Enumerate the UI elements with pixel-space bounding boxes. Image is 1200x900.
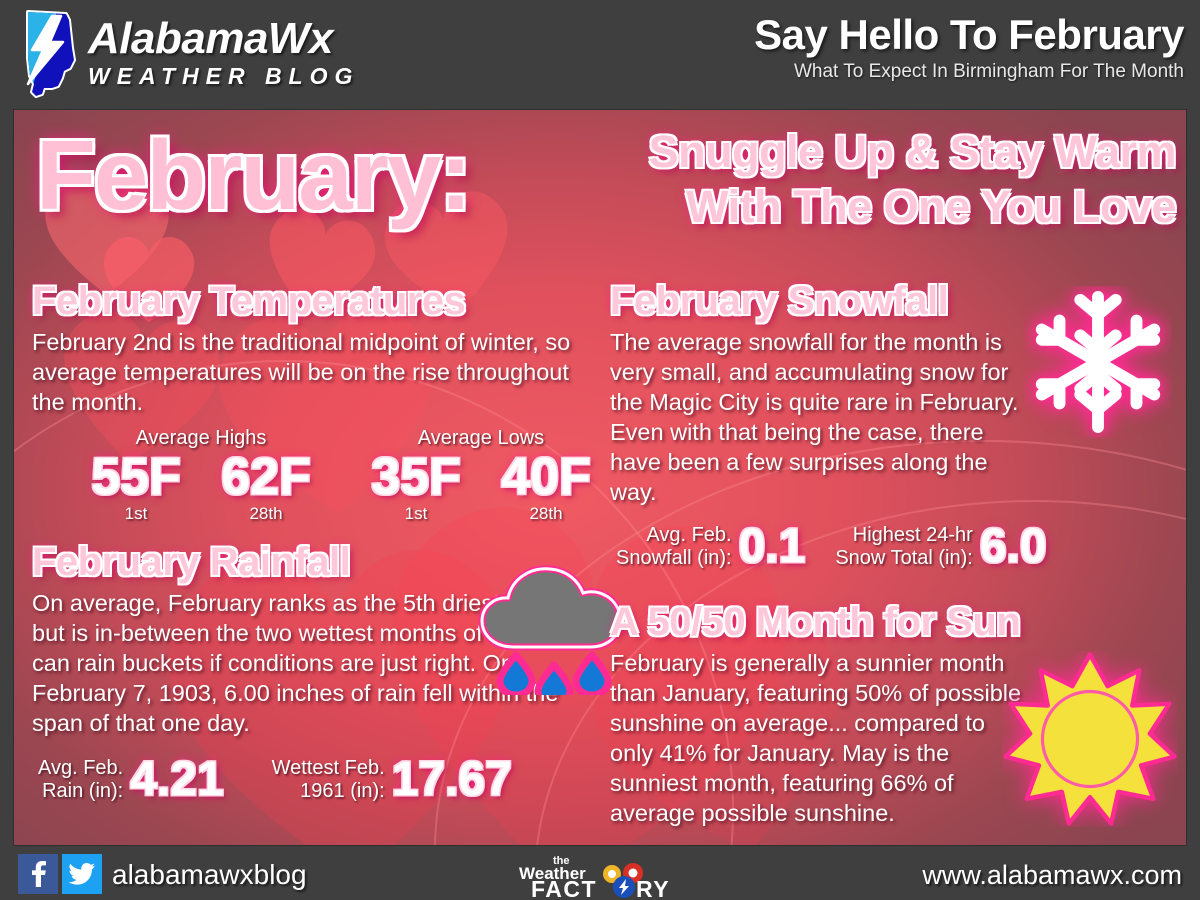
page-subtitle: What To Expect In Birmingham For The Mon…: [754, 60, 1184, 84]
low-stat-1: 35F 1st: [360, 450, 472, 524]
snowfall-stat-1-label-1: Avg. Feb.: [616, 524, 732, 547]
hero-month-title: February:: [36, 120, 470, 230]
footer-bar: alabamawxblog the Weather FACT RY: [0, 848, 1200, 900]
average-highs-group: Average Highs 55F 1st 62F 28th: [80, 427, 322, 524]
average-lows-label: Average Lows: [360, 427, 602, 450]
svg-text:RY: RY: [636, 876, 670, 898]
brand-name: AlabamaWx: [88, 16, 359, 62]
average-lows-group: Average Lows 35F 1st 40F 28th: [360, 427, 602, 524]
sun-heading: A 50/50 Month for Sun: [610, 599, 1180, 645]
rainfall-stat-2-label-2: 1961 (in):: [272, 780, 385, 803]
hero-tagline: Snuggle Up & Stay Warm With The One You …: [566, 124, 1176, 234]
infographic-page: AlabamaWx WEATHER BLOG Say Hello To Febr…: [0, 0, 1200, 900]
hero-banner: February: Snuggle Up & Stay Warm With Th…: [14, 110, 1186, 280]
high-day-2: 28th: [210, 504, 322, 524]
temperatures-heading: February Temperatures: [32, 278, 612, 324]
snowfall-stat-2-label-2: Snow Total (in):: [835, 547, 972, 570]
snowfall-stat-2-value: 6.0: [980, 523, 1047, 571]
temperature-stats: Average Highs 55F 1st 62F 28th: [32, 427, 612, 523]
section-temperatures: February Temperatures February 2nd is th…: [32, 278, 612, 523]
rainfall-stat-1-label-1: Avg. Feb.: [38, 757, 123, 780]
social-handle[interactable]: alabamawxblog: [112, 860, 307, 890]
high-value-1: 55F: [80, 450, 192, 504]
high-day-1: 1st: [80, 504, 192, 524]
right-column: February Snowfall The average snowfall f…: [610, 278, 1180, 828]
brand-subtitle: WEATHER BLOG: [88, 63, 359, 89]
average-highs-label: Average Highs: [80, 427, 322, 450]
high-stat-1: 55F 1st: [80, 450, 192, 524]
high-value-2: 62F: [210, 450, 322, 504]
header-bar: AlabamaWx WEATHER BLOG Say Hello To Febr…: [0, 0, 1200, 108]
temperatures-body: February 2nd is the traditional midpoint…: [32, 327, 602, 417]
sun-body: February is generally a sunnier month th…: [610, 648, 1028, 828]
rainfall-stat-2: Wettest Feb. 1961 (in): 17.67: [272, 756, 512, 804]
sun-icon: [1002, 651, 1178, 827]
snowflake-icon: [1024, 286, 1172, 438]
left-column: February Temperatures February 2nd is th…: [32, 278, 612, 804]
rainfall-stat-2-value: 17.67: [392, 756, 512, 804]
the-weather-factory-logo[interactable]: the Weather FACT RY: [505, 852, 695, 898]
rainfall-stat-1-label-2: Rain (in):: [38, 780, 123, 803]
section-rainfall: February Rainfall On average, February r…: [32, 539, 612, 804]
infographic-panel: February: Snuggle Up & Stay Warm With Th…: [14, 110, 1186, 845]
snowfall-stats: Avg. Feb. Snowfall (in): 0.1 Highest 24-…: [610, 523, 1180, 571]
rainfall-stat-1-value: 4.21: [130, 756, 223, 804]
alabama-lightning-logo-icon: [14, 8, 82, 100]
snowfall-stat-2: Highest 24-hr Snow Total (in): 6.0: [835, 523, 1046, 571]
low-value-1: 35F: [360, 450, 472, 504]
rainfall-stats: Avg. Feb. Rain (in): 4.21 Wettest Feb. 1…: [32, 756, 612, 804]
facebook-icon[interactable]: [18, 854, 58, 894]
snowfall-stat-1: Avg. Feb. Snowfall (in): 0.1: [616, 523, 805, 571]
low-day-1: 1st: [360, 504, 472, 524]
snowfall-body: The average snowfall for the month is ve…: [610, 327, 1022, 507]
brand-wordmark: AlabamaWx WEATHER BLOG: [88, 16, 359, 89]
svg-text:FACT: FACT: [531, 876, 597, 898]
snowfall-stat-2-label-1: Highest 24-hr: [835, 524, 972, 547]
low-stat-2: 40F 28th: [490, 450, 602, 524]
low-day-2: 28th: [490, 504, 602, 524]
section-sun: A 50/50 Month for Sun February is genera…: [610, 599, 1180, 828]
page-title: Say Hello To February: [754, 12, 1184, 58]
hero-tagline-line-1: Snuggle Up & Stay Warm: [566, 124, 1176, 179]
section-snowfall: February Snowfall The average snowfall f…: [610, 278, 1180, 571]
header-title-block: Say Hello To February What To Expect In …: [754, 12, 1184, 84]
website-url[interactable]: www.alabamawx.com: [922, 860, 1182, 890]
snowfall-stat-1-value: 0.1: [739, 523, 806, 571]
high-stat-2: 62F 28th: [210, 450, 322, 524]
rainfall-stat-1: Avg. Feb. Rain (in): 4.21: [38, 756, 224, 804]
low-value-2: 40F: [490, 450, 602, 504]
twitter-icon[interactable]: [62, 854, 102, 894]
hero-tagline-line-2: With The One You Love: [566, 179, 1176, 234]
rainfall-stat-2-label-1: Wettest Feb.: [272, 757, 385, 780]
snowfall-stat-1-label-2: Snowfall (in):: [616, 547, 732, 570]
